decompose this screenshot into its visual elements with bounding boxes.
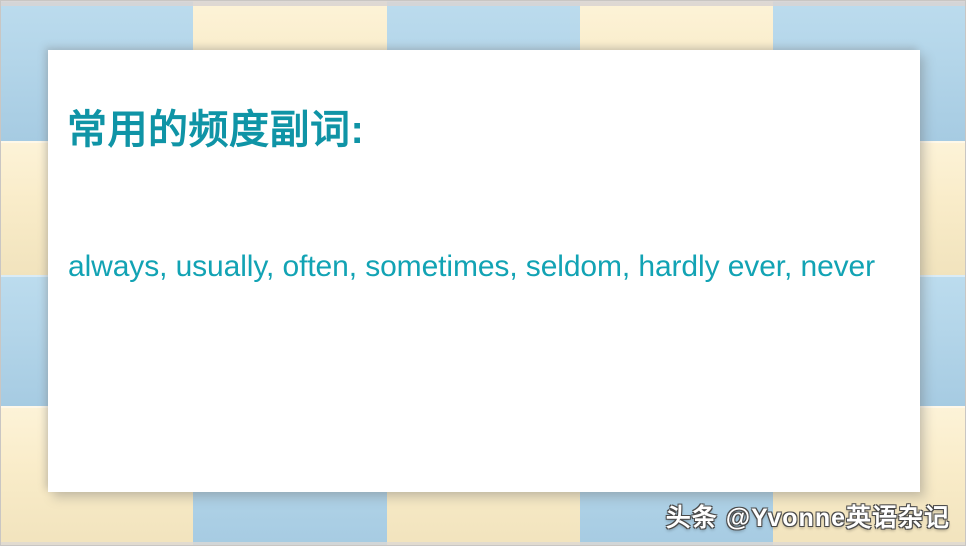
- slide-bottom-band: [0, 542, 966, 546]
- presentation-slide: 常用的频度副词: always, usually, often, sometim…: [0, 0, 966, 546]
- page-title: 常用的频度副词:: [67, 108, 364, 152]
- slide-top-band: [0, 0, 966, 6]
- adverb-list-text: always, usually, often, sometimes, seldo…: [68, 248, 875, 286]
- content-card: 常用的频度副词: always, usually, often, sometim…: [48, 50, 920, 492]
- watermark-label: 头条 @Yvonne英语杂记: [666, 498, 950, 534]
